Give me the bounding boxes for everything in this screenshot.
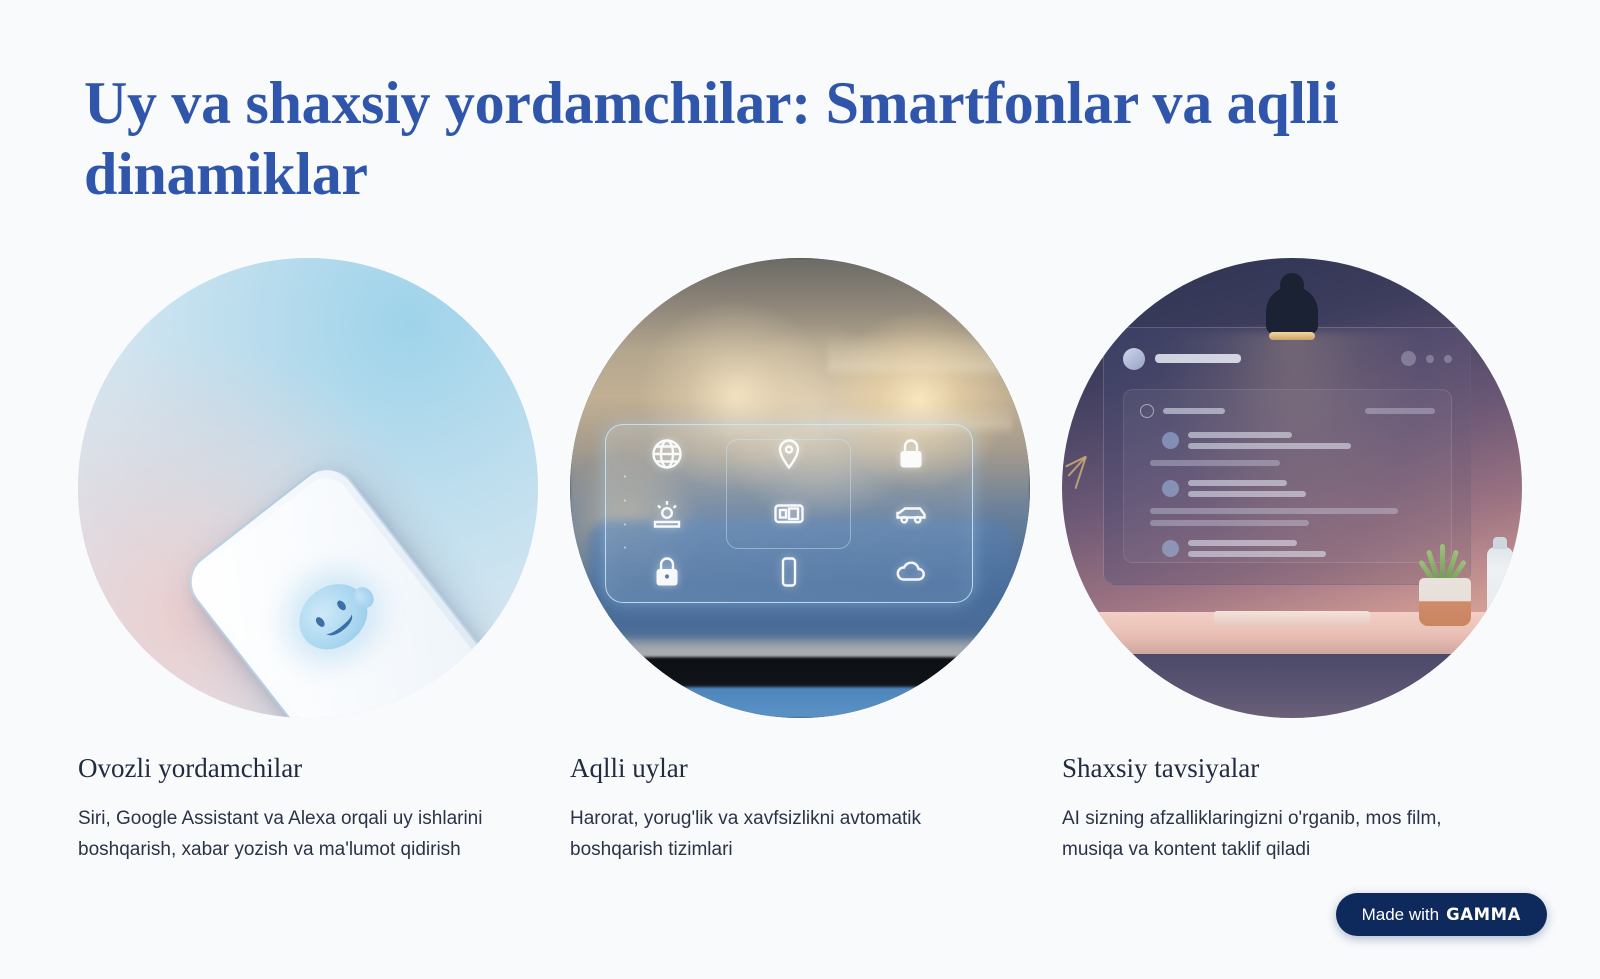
hanging-lamp	[1266, 286, 1318, 334]
message-lines	[1188, 480, 1435, 497]
card-heading: Aqlli uylar	[570, 752, 1030, 786]
card-image-voice-assistants: ◖ ✦ ★ ↷	[78, 258, 538, 718]
settings-icon	[1426, 355, 1434, 363]
car-icon	[893, 495, 929, 531]
smiley-ear	[350, 583, 378, 611]
tablet-device-icon	[771, 495, 807, 531]
screen-header	[1123, 346, 1452, 372]
gamma-wordmark: GAMMA	[1446, 905, 1521, 924]
slide-root: Uy va shaxsiy yordamchilar: Smartfonlar …	[0, 0, 1600, 979]
card-heading: Shaxsiy tavsiyalar	[1062, 752, 1522, 786]
avatar	[1123, 348, 1145, 370]
screen-header-actions	[1401, 351, 1452, 366]
sunrise-brightness-icon	[649, 495, 685, 531]
chat-sub-line	[1150, 508, 1398, 514]
smart-home-hologram-photo: ••••	[570, 258, 1030, 718]
made-with-gamma-badge[interactable]: Made with GAMMA	[1336, 893, 1547, 936]
feature-columns: ◖ ✦ ★ ↷ Ovozli yordamchilar Siri, Google…	[78, 258, 1522, 865]
holo-tick-marks: ••••	[624, 474, 638, 552]
card-image-smart-homes: ••••	[570, 258, 1030, 718]
card-body: Harorat, yorug'lik va xavfsizlikni avtom…	[570, 804, 1002, 866]
smartphone-voice-assistant-photo: ◖ ✦ ★ ↷	[78, 258, 538, 718]
bottle	[1487, 547, 1513, 621]
feature-card-personal-recommendations: Shaxsiy tavsiyalar AI sizning afzallikla…	[1062, 258, 1522, 865]
holographic-control-panel: ••••	[605, 424, 973, 603]
screen-title-placeholder	[1155, 354, 1241, 363]
feature-card-smart-homes: ••••	[570, 258, 1030, 865]
card-body: Siri, Google Assistant va Alexa orqali u…	[78, 804, 510, 866]
more-icon	[1444, 355, 1452, 363]
panel-title-placeholder	[1163, 408, 1225, 414]
chat-sub-line	[1150, 520, 1310, 526]
cloud-icon	[893, 554, 929, 590]
decorative-twig	[1085, 456, 1133, 516]
location-pin-icon	[771, 436, 807, 472]
lock-closed-icon	[893, 436, 929, 472]
chat-panel	[1123, 389, 1452, 563]
panel-badge-icon	[1140, 404, 1154, 418]
phone-action-buttons: ◖ ✦ ★ ↷	[353, 665, 527, 718]
phone-device: ◖ ✦ ★ ↷	[178, 456, 538, 718]
phone-icon	[771, 554, 807, 590]
message-lines	[1188, 540, 1435, 557]
chat-message	[1162, 480, 1435, 497]
keyboard	[1214, 611, 1370, 626]
smiley-assistant-icon	[286, 571, 380, 663]
chat-message	[1162, 432, 1435, 449]
message-avatar	[1162, 540, 1179, 557]
chat-message	[1162, 540, 1435, 557]
card-heading: Ovozli yordamchilar	[78, 752, 538, 786]
panel-action-placeholder	[1365, 408, 1435, 414]
phone-screen: ◖ ✦ ★ ↷	[190, 469, 538, 718]
desk-front-panel	[1062, 654, 1522, 718]
card-image-personal-recommendations	[1062, 258, 1522, 718]
globe-icon	[649, 436, 685, 472]
plant-pot	[1419, 578, 1471, 626]
badge-prefix-label: Made with	[1362, 905, 1439, 925]
help-icon	[1401, 351, 1416, 366]
message-avatar	[1162, 480, 1179, 497]
card-body: AI sizning afzalliklaringizni o'rganib, …	[1062, 804, 1494, 866]
ai-recommendation-desk-photo	[1062, 258, 1522, 718]
feature-card-voice-assistants: ◖ ✦ ★ ↷ Ovozli yordamchilar Siri, Google…	[78, 258, 538, 865]
message-avatar	[1162, 432, 1179, 449]
smiley-mouth	[322, 608, 357, 640]
page-title: Uy va shaxsiy yordamchilar: Smartfonlar …	[84, 68, 1484, 210]
padlock-icon	[649, 554, 685, 590]
message-lines	[1188, 432, 1435, 449]
chat-sub-line	[1150, 460, 1280, 466]
chat-panel-header	[1140, 404, 1435, 418]
